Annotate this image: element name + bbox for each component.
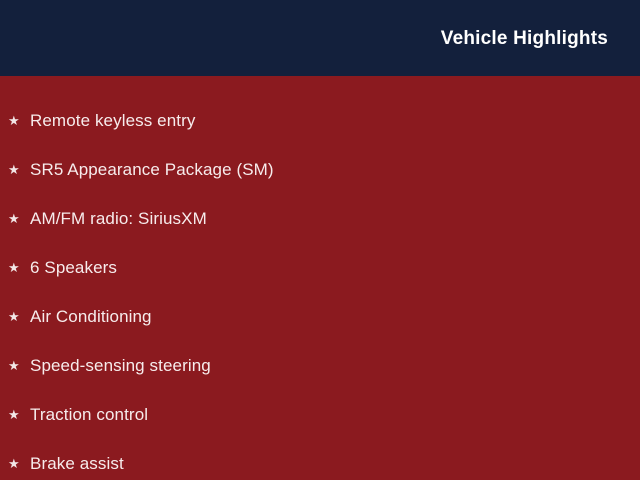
slide-body: ★ Remote keyless entry ★ SR5 Appearance …	[0, 76, 640, 480]
list-item-label: AM/FM radio: SiriusXM	[30, 209, 207, 229]
star-icon: ★	[8, 359, 28, 372]
star-icon: ★	[8, 457, 28, 470]
slide-header: Vehicle Highlights	[0, 0, 640, 76]
list-item: ★ Brake assist	[0, 439, 640, 480]
list-item-label: Brake assist	[30, 454, 124, 474]
list-item-label: Remote keyless entry	[30, 111, 195, 131]
list-item: ★ Speed-sensing steering	[0, 341, 640, 390]
star-icon: ★	[8, 114, 28, 127]
list-item: ★ Traction control	[0, 390, 640, 439]
list-item-label: 6 Speakers	[30, 258, 117, 278]
list-item: ★ Air Conditioning	[0, 292, 640, 341]
list-item-label: Traction control	[30, 405, 148, 425]
list-item: ★ Remote keyless entry	[0, 96, 640, 145]
highlights-list: ★ Remote keyless entry ★ SR5 Appearance …	[0, 76, 640, 480]
list-item: ★ SR5 Appearance Package (SM)	[0, 145, 640, 194]
star-icon: ★	[8, 261, 28, 274]
star-icon: ★	[8, 408, 28, 421]
list-item-label: SR5 Appearance Package (SM)	[30, 160, 274, 180]
star-icon: ★	[8, 212, 28, 225]
list-item-label: Air Conditioning	[30, 307, 152, 327]
list-item-label: Speed-sensing steering	[30, 356, 211, 376]
list-item: ★ 6 Speakers	[0, 243, 640, 292]
list-item: ★ AM/FM radio: SiriusXM	[0, 194, 640, 243]
star-icon: ★	[8, 310, 28, 323]
vehicle-highlights-slide: Vehicle Highlights ★ Remote keyless entr…	[0, 0, 640, 480]
page-title: Vehicle Highlights	[441, 29, 608, 48]
star-icon: ★	[8, 163, 28, 176]
